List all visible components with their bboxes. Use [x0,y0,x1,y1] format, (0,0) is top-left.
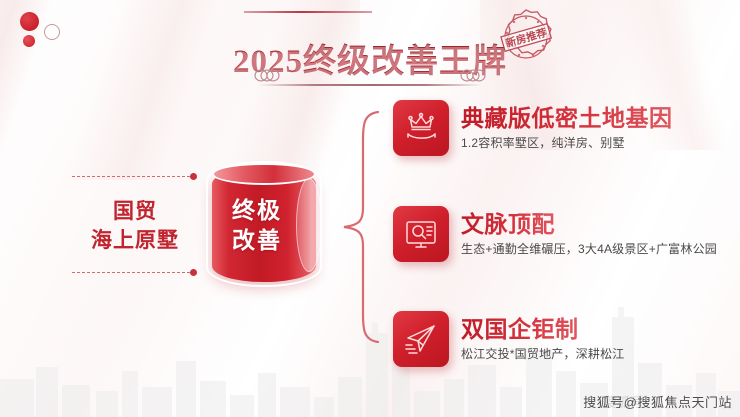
crown-in-hand-icon [393,100,449,156]
feature-subtitle: 生态+通勤全维碾压，3大4A级景区+广富林公园 [461,240,717,257]
feature-row[interactable]: 双国企钜制 松江交投*国贸地产，深耕松江 [393,311,733,369]
curly-brace-icon [338,108,382,346]
decorative-dot-large-icon [20,12,39,31]
feature-subtitle: 1.2容积率墅区，纯洋房、别墅 [461,134,625,151]
title-top-rule [244,11,372,13]
feature-title: 典藏版低密土地基因 [461,99,673,133]
dashed-rule-top-dot-icon [190,173,197,180]
ornament-rings-icon [252,69,282,82]
project-name: 国贸 海上原墅 [72,197,198,255]
feature-row[interactable]: 文脉顶配 生态+通勤全维碾压，3大4A级景区+广富林公园 [393,206,733,264]
watermark: 搜狐号@搜狐焦点天门站 [583,392,732,411]
divider-line [258,84,482,86]
dashed-rule-top [72,176,190,177]
feature-title: 双国企钜制 [461,310,579,344]
monitor-search-icon [393,206,449,262]
project-name-block: 国贸 海上原墅 [72,176,202,274]
poster-canvas: 2025终级改善王牌 新房推荐 [0,0,740,417]
cylinder-top-ellipse-icon [212,163,316,185]
feature-row[interactable]: 典藏版低密土地基因 1.2容积率墅区，纯洋房、别墅 [393,100,733,158]
center-badge-line2: 改善 [214,225,300,255]
feature-subtitle: 松江交投*国贸地产，深耕松江 [461,345,624,362]
center-badge: 终极 改善 [204,168,324,282]
center-badge-line1: 终极 [214,195,300,225]
ornament-rings-icon-right [458,69,488,82]
dashed-rule-bottom-dot-icon [190,269,197,276]
paper-plane-icon [393,311,449,367]
feature-title: 文脉顶配 [461,205,555,239]
stamp-seal-icon: 新房推荐 [494,6,558,68]
project-name-line2: 海上原墅 [72,226,198,255]
center-badge-text: 终极 改善 [214,195,300,255]
dashed-rule-bottom [72,272,190,273]
title-divider [244,63,496,89]
project-name-line1: 国贸 [72,197,198,226]
